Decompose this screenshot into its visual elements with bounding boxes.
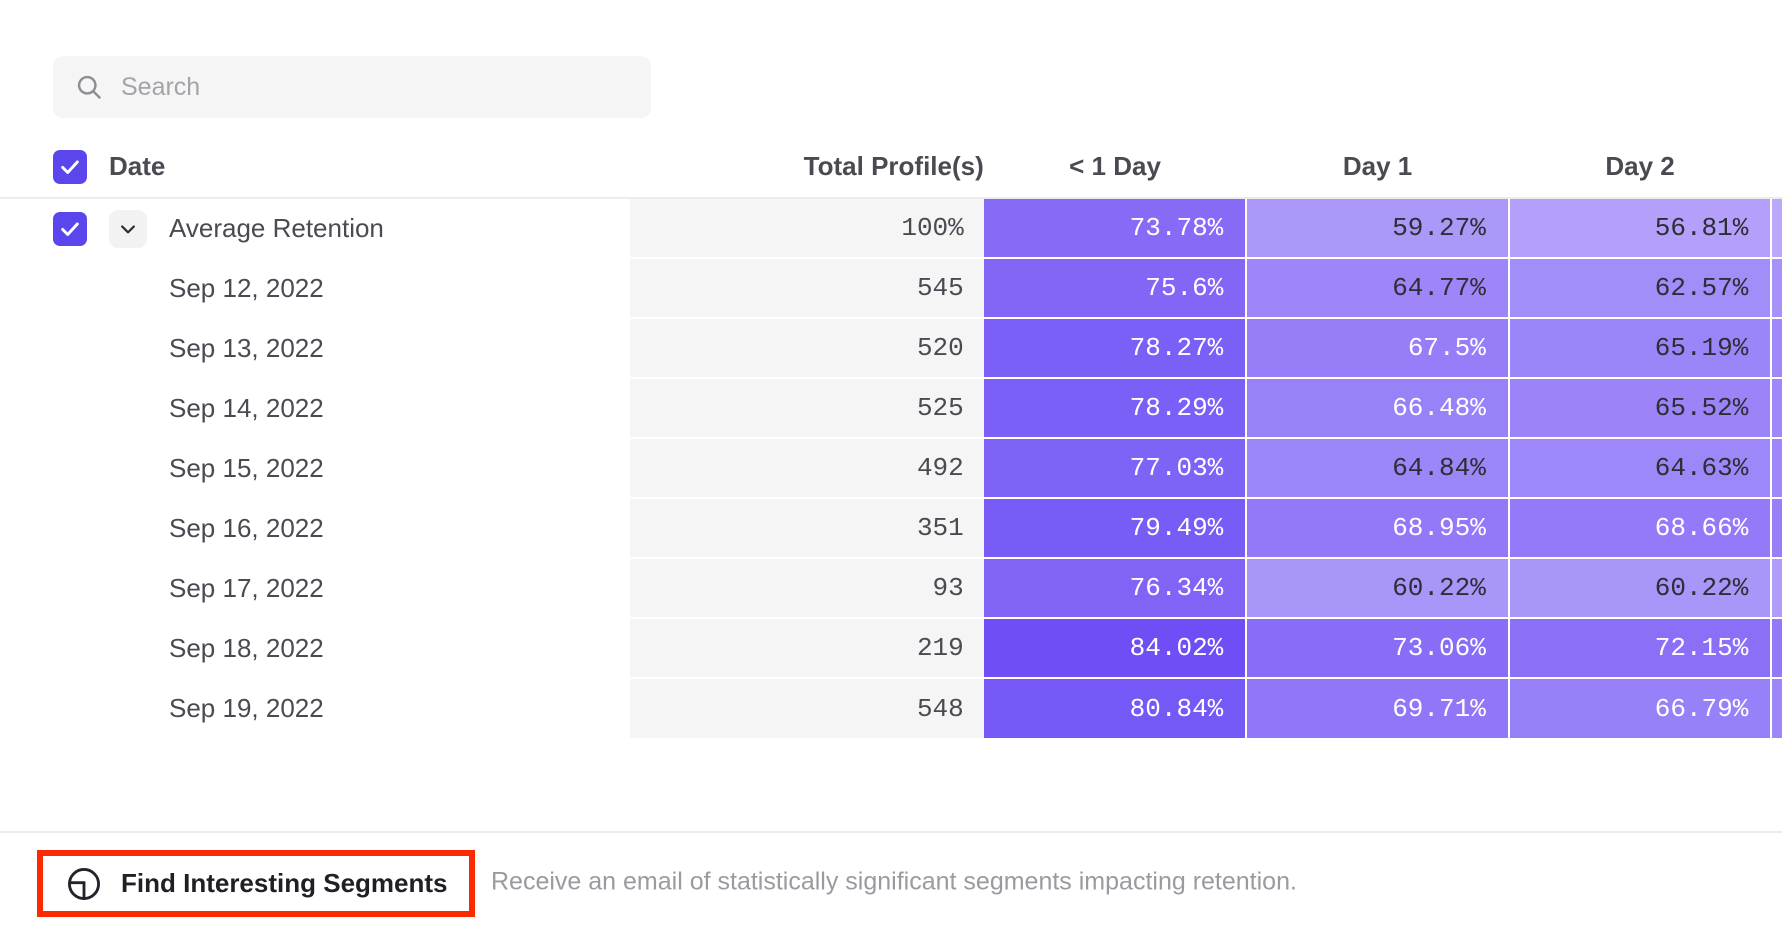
retention-cell[interactable]: 59.27% (1246, 198, 1509, 258)
row-label-cell: Sep 12, 2022 (0, 258, 630, 318)
column-header-date-label: Date (109, 151, 165, 182)
column-header-day-1[interactable]: Day 1 (1246, 136, 1509, 198)
table-scroll-viewport[interactable]: Date Total Profile(s) < 1 Day Day 1 Day … (0, 136, 1782, 808)
row-label-cell: Sep 14, 2022 (0, 378, 630, 438)
column-header-lt-1-day[interactable]: < 1 Day (984, 136, 1247, 198)
row-label: Sep 19, 2022 (169, 693, 324, 724)
retention-cell[interactable]: 56.81% (1509, 198, 1772, 258)
retention-cell[interactable]: 69.71% (1246, 678, 1509, 738)
column-header-date[interactable]: Date (0, 136, 630, 198)
total-profiles-cell: 545 (630, 258, 983, 318)
retention-cell[interactable]: 76.34% (984, 558, 1247, 618)
retention-cell[interactable]: 68.95% (1771, 618, 1782, 678)
retention-cell[interactable]: 64.63% (1509, 438, 1772, 498)
row-label: Sep 13, 2022 (169, 333, 324, 364)
row-label: Average Retention (169, 213, 384, 244)
retention-cell[interactable]: 68.95% (1246, 498, 1509, 558)
column-header-total-profiles[interactable]: Total Profile(s) (630, 136, 983, 198)
retention-cell[interactable]: 68.66% (1509, 498, 1772, 558)
footer-bar: Find Interesting Segments Receive an ema… (0, 833, 1782, 930)
find-interesting-segments-button[interactable]: Find Interesting Segments (37, 850, 475, 917)
table-header: Date Total Profile(s) < 1 Day Day 1 Day … (0, 136, 1782, 198)
row-label: Sep 12, 2022 (169, 273, 324, 304)
row-label: Sep 15, 2022 (169, 453, 324, 484)
retention-cell[interactable]: 77.03% (984, 438, 1247, 498)
retention-cell[interactable]: 64.77% (1246, 258, 1509, 318)
segments-pie-icon (65, 865, 103, 903)
retention-cell[interactable]: 65.19% (1509, 318, 1772, 378)
retention-cell[interactable]: 64.23% (1771, 318, 1782, 378)
table-body: Average Retention100%73.78%59.27%56.81%5… (0, 198, 1782, 738)
retention-cell[interactable]: 64.96% (1771, 678, 1782, 738)
row-label: Sep 14, 2022 (169, 393, 324, 424)
retention-cell[interactable]: 54.79% (1771, 198, 1782, 258)
row-label: Sep 16, 2022 (169, 513, 324, 544)
find-interesting-segments-label: Find Interesting Segments (121, 868, 448, 899)
retention-cell[interactable]: 66.48% (1246, 378, 1509, 438)
retention-cell[interactable]: 66.95% (1771, 498, 1782, 558)
retention-cell[interactable]: 84.02% (984, 618, 1247, 678)
horizontal-scrollbar-track[interactable] (0, 808, 1782, 830)
search-icon (75, 73, 103, 101)
row-label-cell: Average Retention (0, 198, 630, 258)
total-profiles-cell: 100% (630, 198, 983, 258)
row-label-cell: Sep 18, 2022 (0, 618, 630, 678)
chevron-down-icon[interactable] (109, 210, 147, 248)
column-header-day-3[interactable]: Day 3 (1771, 136, 1782, 198)
total-profiles-cell: 548 (630, 678, 983, 738)
table-row[interactable]: Sep 19, 202254880.84%69.71%66.79%64.96%6… (0, 678, 1782, 738)
retention-table: Date Total Profile(s) < 1 Day Day 1 Day … (0, 136, 1782, 738)
row-label-cell: Sep 16, 2022 (0, 498, 630, 558)
retention-cell[interactable]: 60.22% (1509, 558, 1772, 618)
retention-cell[interactable]: 79.49% (984, 498, 1247, 558)
retention-cell[interactable]: 58.06% (1771, 558, 1782, 618)
retention-cell[interactable]: 64.38% (1771, 378, 1782, 438)
row-label-cell: Sep 17, 2022 (0, 558, 630, 618)
retention-cell[interactable]: 64.43% (1771, 438, 1782, 498)
row-label-cell: Sep 19, 2022 (0, 678, 630, 738)
row-label-cell: Sep 13, 2022 (0, 318, 630, 378)
retention-cell[interactable]: 62.57% (1509, 258, 1772, 318)
total-profiles-cell: 525 (630, 378, 983, 438)
row-label-cell: Sep 15, 2022 (0, 438, 630, 498)
total-profiles-cell: 520 (630, 318, 983, 378)
search-bar[interactable] (53, 56, 651, 118)
retention-cell[interactable]: 64.84% (1246, 438, 1509, 498)
retention-cell[interactable]: 73.78% (984, 198, 1247, 258)
retention-cell[interactable]: 80.84% (984, 678, 1247, 738)
retention-cell[interactable]: 78.27% (984, 318, 1247, 378)
retention-cell[interactable]: 60.22% (1246, 558, 1509, 618)
table-row[interactable]: Average Retention100%73.78%59.27%56.81%5… (0, 198, 1782, 258)
total-profiles-cell: 93 (630, 558, 983, 618)
column-header-day-2[interactable]: Day 2 (1509, 136, 1772, 198)
table-row[interactable]: Sep 12, 202254575.6%64.77%62.57%61.1%60.… (0, 258, 1782, 318)
retention-cell[interactable]: 73.06% (1246, 618, 1509, 678)
table-row[interactable]: Sep 13, 202252078.27%67.5%65.19%64.23%63… (0, 318, 1782, 378)
row-label: Sep 17, 2022 (169, 573, 324, 604)
total-profiles-cell: 492 (630, 438, 983, 498)
table-header-row: Date Total Profile(s) < 1 Day Day 1 Day … (0, 136, 1782, 198)
table-row[interactable]: Sep 15, 202249277.03%64.84%64.63%64.43%6… (0, 438, 1782, 498)
retention-cell[interactable]: 65.52% (1509, 378, 1772, 438)
footer-note: Receive an email of statistically signif… (491, 867, 1297, 896)
table-row[interactable]: Sep 17, 20229376.34%60.22%60.22%58.06%54… (0, 558, 1782, 618)
row-checkbox[interactable] (53, 212, 87, 246)
retention-table-panel: Date Total Profile(s) < 1 Day Day 1 Day … (0, 0, 1782, 930)
retention-cell[interactable]: 78.29% (984, 378, 1247, 438)
retention-cell[interactable]: 61.1% (1771, 258, 1782, 318)
select-all-checkbox[interactable] (53, 150, 87, 184)
total-profiles-cell: 219 (630, 618, 983, 678)
row-label: Sep 18, 2022 (169, 633, 324, 664)
table-row[interactable]: Sep 16, 202235179.49%68.95%68.66%66.95%6… (0, 498, 1782, 558)
table-row[interactable]: Sep 14, 202252578.29%66.48%65.52%64.38%6… (0, 378, 1782, 438)
search-input[interactable] (121, 56, 629, 118)
retention-cell[interactable]: 75.6% (984, 258, 1247, 318)
retention-cell[interactable]: 72.15% (1509, 618, 1772, 678)
table-row[interactable]: Sep 18, 202221984.02%73.06%72.15%68.95%6… (0, 618, 1782, 678)
retention-cell[interactable]: 66.79% (1509, 678, 1772, 738)
total-profiles-cell: 351 (630, 498, 983, 558)
retention-cell[interactable]: 67.5% (1246, 318, 1509, 378)
